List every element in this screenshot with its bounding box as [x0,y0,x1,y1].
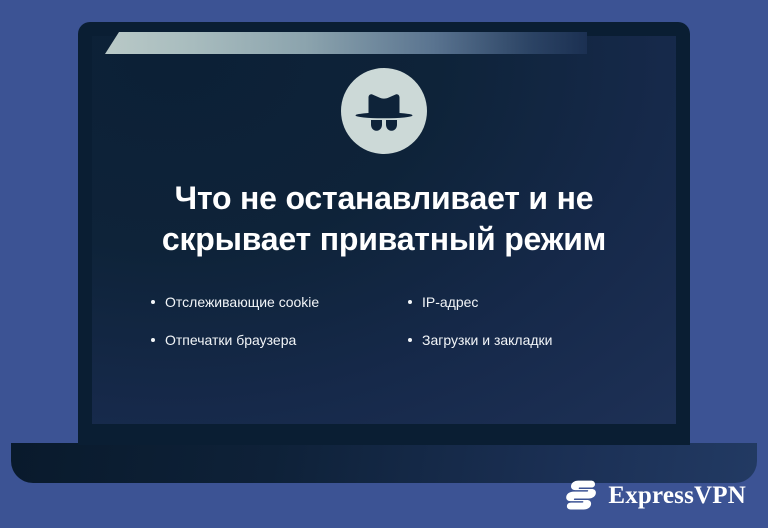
laptop-base [11,443,757,483]
brand-logo: ExpressVPN [565,480,746,510]
list-item: Отпечатки браузера [150,332,365,349]
brand-name: ExpressVPN [608,483,746,508]
bullet-column-left: Отслеживающие cookie Отпечатки браузера [150,294,365,349]
incognito-icon [341,68,427,154]
expressvpn-e-mark-icon [565,480,599,510]
decorative-stripe [105,32,587,54]
bullet-column-right: IP-адрес Загрузки и закладки [407,294,607,349]
list-item: Загрузки и закладки [407,332,607,349]
list-item: Отслеживающие cookie [150,294,365,311]
page-title: Что не останавливает и не скрывает прива… [108,178,660,260]
bullet-list: Отслеживающие cookie Отпечатки браузера … [150,294,650,349]
list-item: IP-адрес [407,294,607,311]
